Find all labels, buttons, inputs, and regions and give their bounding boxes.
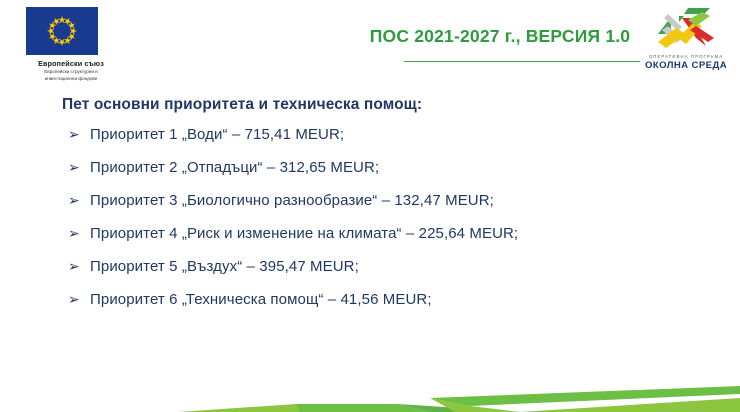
- list-item-label: Приоритет 3 „Биологично разнообразие“ – …: [90, 188, 494, 213]
- chevron-right-bullet-icon: ➢: [68, 255, 90, 280]
- opos-caption-main: ОКОЛНА СРЕДА: [638, 60, 734, 71]
- eu-caption-sub-line-1: Европейски структурни и: [24, 69, 118, 75]
- eu-caption-sub-line-2: инвестиционни фондове: [24, 76, 118, 82]
- list-item: ➢ Приоритет 6 „Техническа помощ“ – 41,56…: [0, 287, 740, 312]
- list-item: ➢ Приоритет 2 „Отпадъци“ – 312,65 MEUR;: [0, 155, 740, 180]
- eu-flag-logo: Европейски съюз Европейски структурни и …: [24, 7, 120, 82]
- slide-header: Европейски съюз Европейски структурни и …: [0, 0, 740, 86]
- slide-content: Пет основни приоритета и техническа помо…: [0, 96, 740, 320]
- page-title: ПОС 2021-2027 г., ВЕРСИЯ 1.0: [350, 26, 650, 47]
- list-item: ➢ Приоритет 4 „Риск и изменение на клима…: [0, 221, 740, 246]
- title-underline-rule: [404, 61, 640, 62]
- section-heading: Пет основни приоритета и техническа помо…: [62, 96, 740, 114]
- list-item: ➢ Приоритет 5 „Въздух“ – 395,47 MEUR;: [0, 254, 740, 279]
- list-item: ➢ Приоритет 1 „Води“ – 715,41 MEUR;: [0, 122, 740, 147]
- chevron-right-bullet-icon: ➢: [68, 156, 90, 181]
- slide: Европейски съюз Европейски структурни и …: [0, 0, 740, 412]
- chevron-right-bullet-icon: ➢: [68, 222, 90, 247]
- chevron-right-bullet-icon: ➢: [68, 189, 90, 214]
- chevron-right-bullet-icon: ➢: [68, 288, 90, 313]
- list-item-label: Приоритет 6 „Техническа помощ“ – 41,56 M…: [90, 287, 432, 312]
- eu-logo-caption: Европейски съюз Европейски структурни и …: [24, 59, 118, 82]
- opos-logo: ОПЕРАТИВНА ПРОГРАМА ОКОЛНА СРЕДА: [638, 4, 734, 76]
- list-item-label: Приоритет 2 „Отпадъци“ – 312,65 MEUR;: [90, 155, 379, 180]
- opos-mark-icon: [638, 4, 734, 54]
- chevron-right-bullet-icon: ➢: [68, 123, 90, 148]
- eu-stars-icon: [26, 7, 98, 55]
- priority-list: ➢ Приоритет 1 „Води“ – 715,41 MEUR; ➢ Пр…: [0, 122, 740, 312]
- list-item: ➢ Приоритет 3 „Биологично разнообразие“ …: [0, 188, 740, 213]
- green-ribbon-decoration: [0, 372, 740, 412]
- list-item-label: Приоритет 5 „Въздух“ – 395,47 MEUR;: [90, 254, 359, 279]
- list-item-label: Приоритет 4 „Риск и изменение на климата…: [90, 221, 518, 246]
- list-item-label: Приоритет 1 „Води“ – 715,41 MEUR;: [90, 122, 344, 147]
- eu-flag-icon: [26, 7, 98, 55]
- eu-caption-main: Европейски съюз: [24, 59, 118, 68]
- opos-logo-caption: ОПЕРАТИВНА ПРОГРАМА ОКОЛНА СРЕДА: [638, 54, 734, 71]
